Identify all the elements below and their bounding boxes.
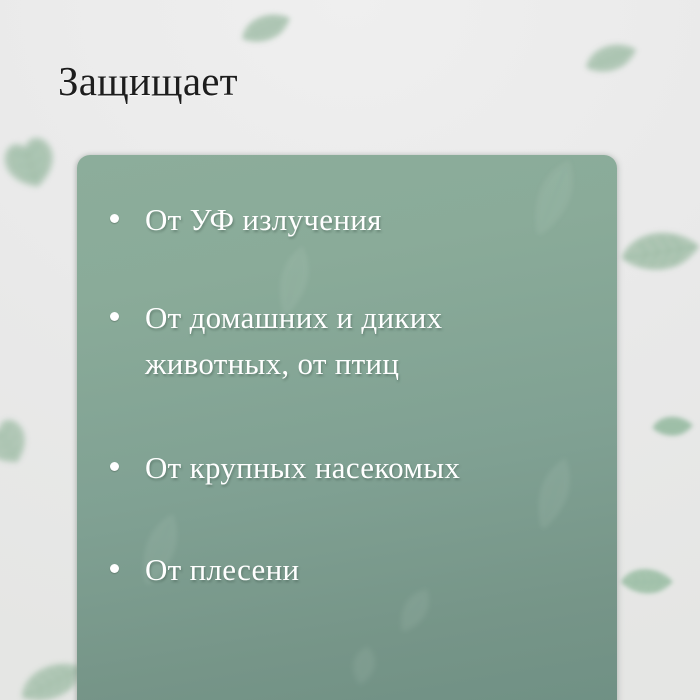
list-item-label: От крупных насекомых <box>145 445 460 491</box>
bullet-dot-icon <box>110 564 119 573</box>
slide-canvas: Защищает От УФ излучения От домашних и д… <box>0 0 700 700</box>
list-item-label: От плесени <box>145 547 299 593</box>
benefits-card: От УФ излучения От домашних и диких живо… <box>77 155 617 700</box>
list-item: От УФ излучения <box>99 197 595 243</box>
leaf-right-lower-icon <box>614 549 678 612</box>
page-title: Защищает <box>58 58 238 105</box>
leaf-top-center-icon <box>235 0 294 58</box>
list-item: От домашних и диких животных, от птиц <box>99 295 595 387</box>
leaf-left-upper-icon <box>0 126 66 198</box>
bullet-dot-icon <box>110 462 119 471</box>
list-item-label: От домашних и диких животных, от птиц <box>145 295 577 387</box>
benefits-list: От УФ излучения От домашних и диких живо… <box>77 155 617 700</box>
list-item: От крупных насекомых <box>99 445 595 491</box>
bullet-dot-icon <box>110 214 119 223</box>
bullet-dot-icon <box>110 312 119 321</box>
leaf-left-mid-icon <box>0 407 40 476</box>
leaf-top-right-icon <box>579 26 641 90</box>
list-item: От плесени <box>99 547 595 593</box>
leaf-right-mid-icon <box>647 401 696 450</box>
leaf-right-upper-icon <box>611 203 700 299</box>
list-item-label: От УФ излучения <box>145 197 382 243</box>
